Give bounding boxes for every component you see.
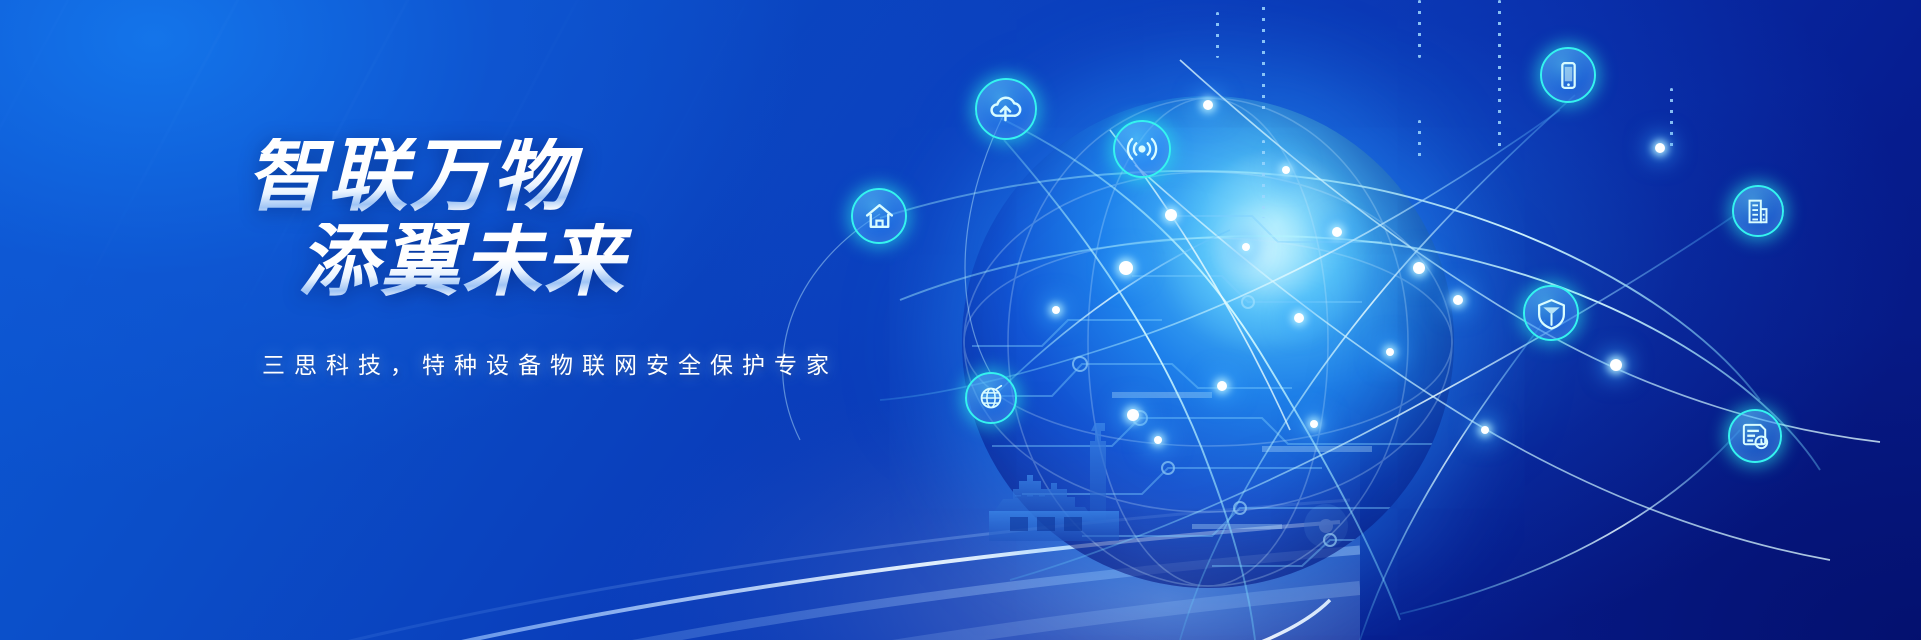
network-node [1217, 381, 1227, 391]
dotted-drop-line [1498, 0, 1501, 150]
network-node [1242, 243, 1250, 251]
report-doc-icon[interactable] [1728, 409, 1782, 463]
signal-wave-icon[interactable] [1113, 120, 1171, 178]
network-node [1332, 227, 1342, 237]
building-icon[interactable] [1732, 185, 1784, 237]
cloud-upload-icon[interactable] [975, 78, 1037, 140]
network-node [1610, 359, 1622, 371]
dotted-drop-line [1670, 88, 1673, 150]
network-node [1386, 348, 1394, 356]
dotted-drop-line [1418, 0, 1421, 58]
network-node [1165, 209, 1177, 221]
network-node [1282, 166, 1290, 174]
dotted-drop-line [1262, 0, 1265, 116]
shield-icon[interactable] [1523, 285, 1579, 341]
dotted-drop-line [1418, 120, 1421, 160]
network-node [1119, 261, 1133, 275]
network-node [1127, 409, 1139, 421]
network-node [1481, 426, 1489, 434]
network-node [1154, 436, 1162, 444]
network-node [1453, 295, 1463, 305]
hero-copy: 智联万物 添翼未来 三思科技，特种设备物联网安全保护专家 [246, 138, 1006, 380]
dotted-drop-line [1262, 140, 1265, 218]
globe-network-icon[interactable] [965, 372, 1017, 424]
network-node [1294, 313, 1304, 323]
hero-subtitle: 三思科技，特种设备物联网安全保护专家 [262, 346, 1006, 380]
city-skyline-silhouette [955, 405, 1165, 555]
headline-line-2: 添翼未来 [298, 223, 1006, 300]
headline-line-1: 智联万物 [246, 138, 1006, 215]
network-node [1203, 100, 1213, 110]
dotted-drop-line [1216, 12, 1219, 58]
hero-banner: 智联万物 添翼未来 三思科技，特种设备物联网安全保护专家 [0, 0, 1921, 640]
network-node [1310, 420, 1318, 428]
mobile-phone-icon[interactable] [1540, 47, 1596, 103]
network-node [1655, 143, 1665, 153]
network-node [1052, 306, 1060, 314]
network-node [1413, 262, 1425, 274]
